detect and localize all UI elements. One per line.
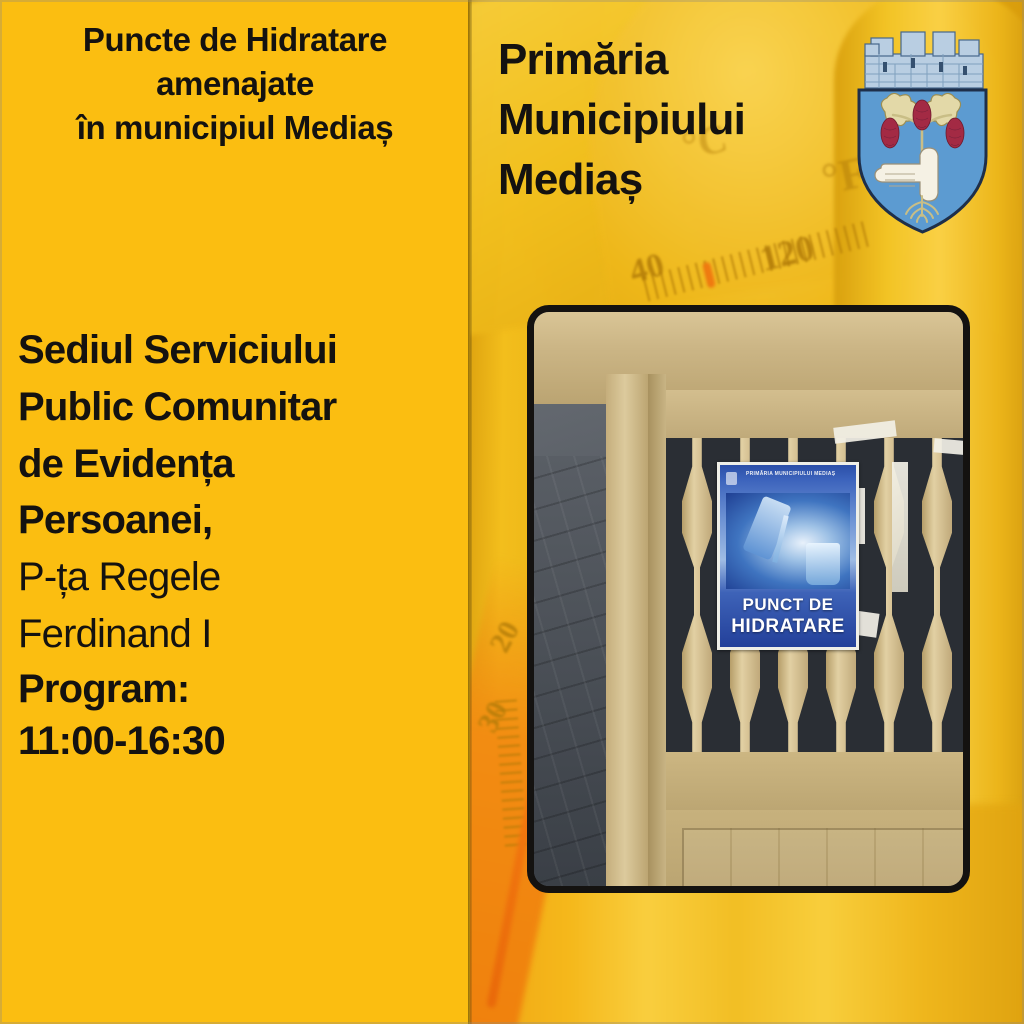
program-label: Program: [18, 663, 470, 715]
poster-header-text: PRIMĂRIA MUNICIPIULUI MEDIAȘ [728, 471, 848, 491]
hydration-notice-poster: PRIMĂRIA MUNICIPIULUI MEDIAȘ PUNCT DE HI… [717, 462, 859, 650]
poster-title-line-2: HIDRATARE [720, 616, 856, 638]
headline-line-2: amenajate [0, 62, 470, 106]
gate-lower-panel-inset [682, 828, 966, 893]
hydration-point-photo: PRIMĂRIA MUNICIPIULUI MEDIAȘ PUNCT DE HI… [527, 305, 970, 893]
info-line-4: Persoanei, [18, 492, 470, 549]
poster-water-photo [726, 493, 850, 589]
right-image-panel: 40 120 20 30 °C °F Primăria Municipiului… [470, 0, 1024, 1024]
gate-bottom-rail [666, 752, 970, 810]
address-line-1: P-ța Regele [18, 549, 470, 606]
water-glass-icon [806, 543, 840, 585]
org-title-line-2: Municipiului [498, 90, 868, 150]
program-hours: 11:00-16:30 [18, 715, 470, 767]
location-info-block: Sediul Serviciului Public Comunitar de E… [18, 322, 470, 767]
info-line-3: de Evidența [18, 436, 470, 493]
gate-top-rail-inner [666, 390, 970, 438]
headline: Puncte de Hidratare amenajate în municip… [0, 18, 470, 150]
poster-title-line-1: PUNCT DE [720, 595, 856, 615]
info-line-1: Sediul Serviciului [18, 322, 470, 379]
headline-line-1: Puncte de Hidratare [0, 18, 470, 62]
column-divider [468, 0, 472, 1024]
headline-line-3: în municipiul Mediaș [0, 106, 470, 150]
poster-canvas: Puncte de Hidratare amenajate în municip… [0, 0, 1024, 1024]
org-title-line-3: Mediaș [498, 150, 868, 210]
organisation-title: Primăria Municipiului Mediaș [498, 30, 868, 209]
gate-left-stile-edge [648, 374, 666, 893]
gate-left-stile [606, 374, 648, 893]
org-title-line-1: Primăria [498, 30, 868, 90]
left-text-panel: Puncte de Hidratare amenajate în municip… [0, 0, 470, 1024]
white-tape [892, 462, 908, 592]
coat-of-arms-icon [845, 16, 1000, 238]
address-line-2: Ferdinand I [18, 606, 470, 663]
info-line-2: Public Comunitar [18, 379, 470, 436]
